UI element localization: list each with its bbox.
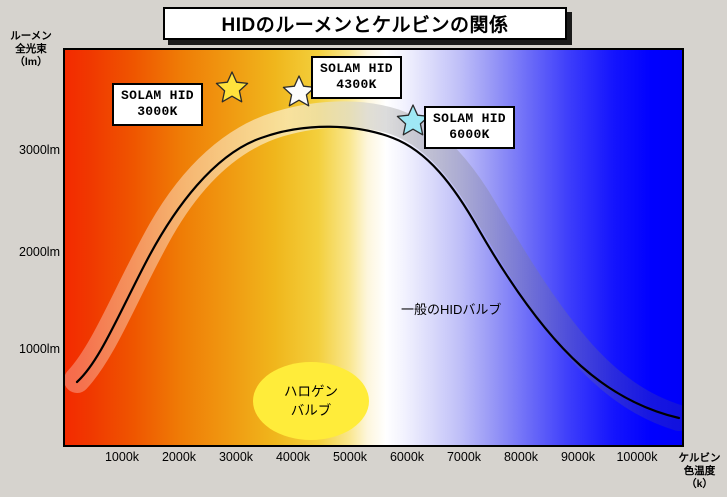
x-tick-10000k: 10000k <box>602 450 672 464</box>
title-box: HIDのルーメンとケルビンの関係 <box>163 7 567 40</box>
x-axis-label-line-1: ケルビン <box>672 452 727 465</box>
callout-6000k-line-2: 6000K <box>433 127 506 143</box>
hid-bulb-curve-label: 一般のHIDバルブ <box>401 299 501 318</box>
y-tick-1000lm: 1000lm <box>2 342 60 356</box>
y-tick-3000lm: 3000lm <box>2 143 60 157</box>
halogen-label-line-2: バルブ <box>291 401 332 420</box>
callout-3000k-line-2: 3000K <box>121 104 194 120</box>
x-axis-label-line-3: （k） <box>672 478 727 491</box>
x-axis-label-line-2: 色温度 <box>672 465 727 478</box>
y-axis-ticks: 3000lm 2000lm 1000lm <box>0 0 60 497</box>
halogen-label-line-1: ハロゲン <box>284 382 338 401</box>
callout-6000k-line-1: SOLAM HID <box>433 111 506 127</box>
page-title: HIDのルーメンとケルビンの関係 <box>222 10 509 37</box>
x-axis-label: ケルビン 色温度 （k） <box>672 452 727 491</box>
star-icon-3000k <box>215 70 249 104</box>
callout-4300k-line-1: SOLAM HID <box>320 61 393 77</box>
halogen-bulb-callout: ハロゲン バルブ <box>253 362 369 440</box>
callout-3000k-line-1: SOLAM HID <box>121 88 194 104</box>
callout-4300k-line-2: 4300K <box>320 77 393 93</box>
chart-page: HIDのルーメンとケルビンの関係 ルーメン 全光束 （lm） 3000lm 20… <box>0 0 727 497</box>
y-tick-2000lm: 2000lm <box>2 245 60 259</box>
callout-solam-hid-4300k: SOLAM HID 4300K <box>311 56 402 99</box>
callout-solam-hid-6000k: SOLAM HID 6000K <box>424 106 515 149</box>
callout-solam-hid-3000k: SOLAM HID 3000K <box>112 83 203 126</box>
